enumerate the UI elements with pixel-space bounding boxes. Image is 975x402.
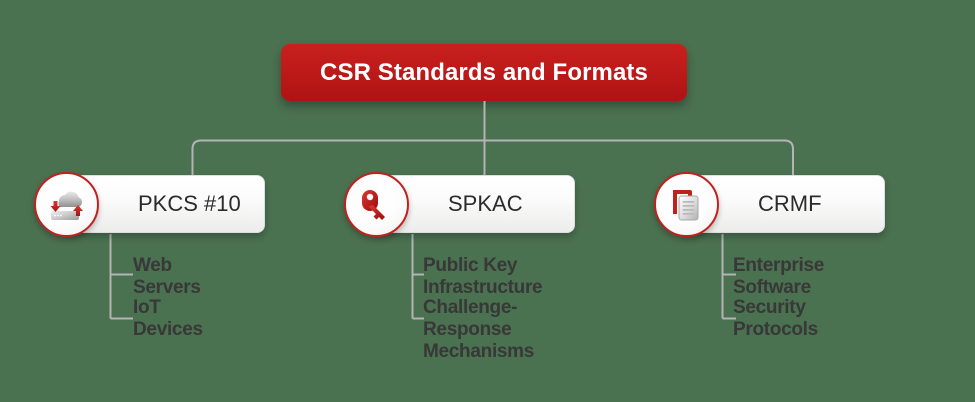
node-label-spkac: SPKAC — [448, 191, 523, 217]
root-node-title: CSR Standards and Formats — [320, 59, 648, 87]
key-icon — [344, 172, 409, 237]
node-label-pkcs10: PKCS #10 — [138, 191, 241, 217]
documents-copy-icon — [654, 172, 719, 237]
leaf-item[interactable]: Challenge-Response Mechanisms — [423, 297, 534, 363]
root-node-csr-standards[interactable]: CSR Standards and Formats — [281, 44, 687, 101]
csr-standards-diagram: CSR Standards and Formats PKCS #10 — [0, 0, 975, 402]
leaf-item[interactable]: Web Servers — [133, 255, 201, 299]
cloud-server-sync-icon — [34, 172, 99, 237]
leaf-item[interactable]: Public Key Infrastructure — [423, 255, 542, 299]
leaf-item[interactable]: Enterprise Software — [733, 255, 824, 299]
node-label-crmf: CRMF — [758, 191, 822, 217]
leaf-item[interactable]: Security Protocols — [733, 297, 818, 341]
leaf-item[interactable]: IoT Devices — [133, 297, 203, 341]
